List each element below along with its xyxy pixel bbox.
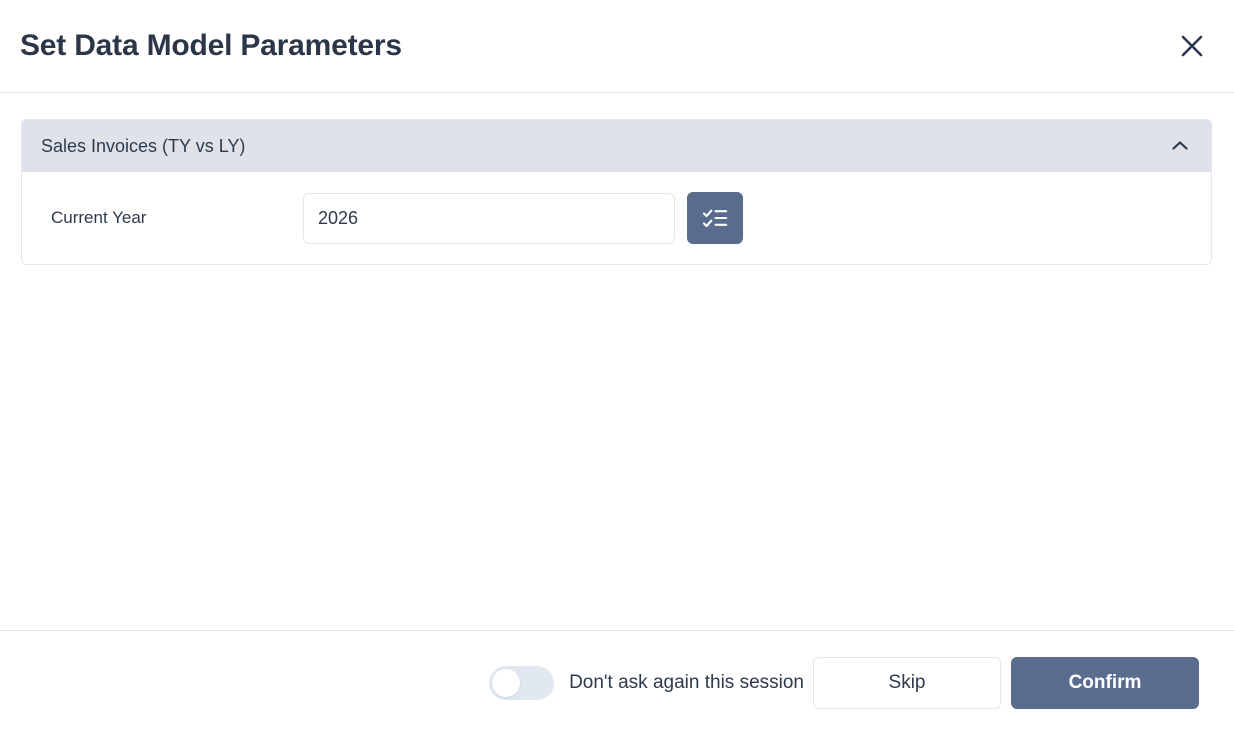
parameter-label-current-year: Current Year [22,208,303,228]
checklist-icon [700,203,730,233]
parameter-control-current-year [303,192,743,244]
close-button[interactable] [1172,26,1212,66]
dont-ask-again-group: Don't ask again this session [489,666,804,700]
page-title: Set Data Model Parameters [20,31,402,61]
parameter-section-title: Sales Invoices (TY vs LY) [41,137,245,155]
parameter-section-body: Current Year [22,172,1211,264]
parameter-section-header[interactable]: Sales Invoices (TY vs LY) [22,120,1211,172]
close-icon [1178,32,1206,60]
toggle-knob [492,669,520,697]
dialog-footer: Don't ask again this session Skip Confir… [0,630,1234,734]
dont-ask-again-label: Don't ask again this session [569,672,804,694]
skip-button[interactable]: Skip [813,657,1001,709]
set-data-model-parameters-dialog: Set Data Model Parameters Sales Invoices… [0,0,1234,734]
current-year-input[interactable] [303,193,675,244]
dialog-header: Set Data Model Parameters [0,0,1234,93]
chevron-up-icon[interactable] [1167,133,1193,159]
parameter-section-card: Sales Invoices (TY vs LY) Current Year [21,119,1212,265]
current-year-picker-button[interactable] [687,192,743,244]
dont-ask-again-toggle[interactable] [489,666,554,700]
dialog-body: Sales Invoices (TY vs LY) Current Year [0,93,1234,630]
confirm-button[interactable]: Confirm [1011,657,1199,709]
